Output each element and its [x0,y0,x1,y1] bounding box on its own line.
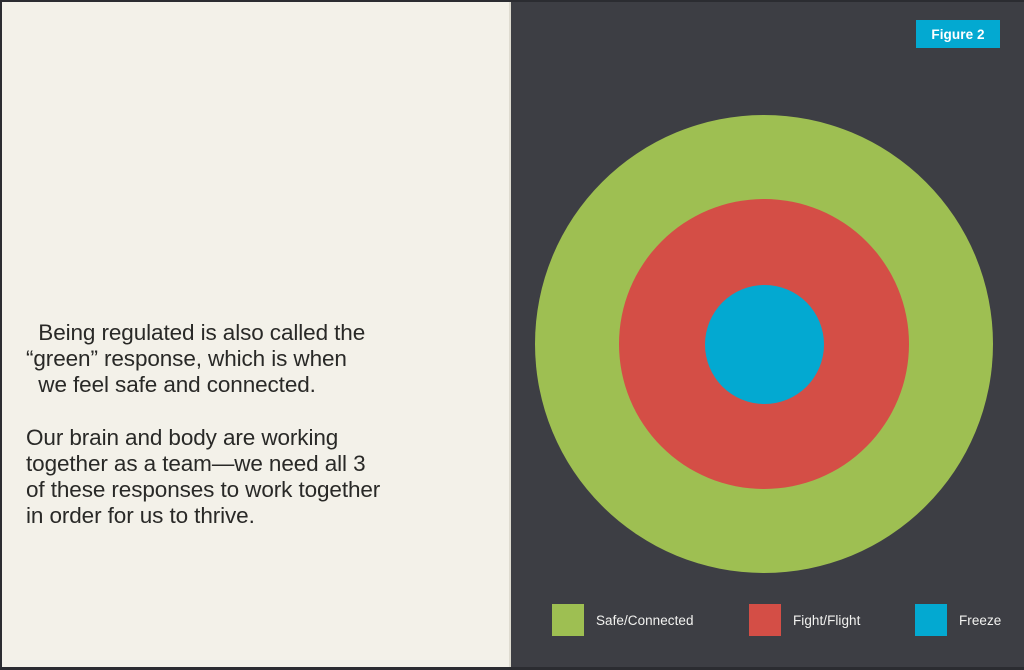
text-panel: Being regulated is also called the “gree… [2,2,511,667]
paragraph-2-line-3: of these responses to work together [26,477,478,503]
legend-item-freeze: Freeze [915,603,1001,637]
concentric-circles-diagram [511,2,1024,667]
paragraph-1-line-2: “green” response, which is when [26,346,478,372]
legend-item-safe-connected: Safe/Connected [552,603,694,637]
legend-swatch-green-icon [552,604,584,636]
body-copy: Being regulated is also called the “gree… [26,320,478,529]
figure-panel: Figure 2 Safe/Connected Fight/Flight Fre… [511,2,1024,667]
figure-page: Being regulated is also called the “gree… [0,0,1024,670]
paragraph-1-line-1: Being regulated is also called the [26,320,478,346]
legend-label-fight-flight: Fight/Flight [793,613,860,628]
legend-label-freeze: Freeze [959,613,1001,628]
legend-item-fight-flight: Fight/Flight [749,603,860,637]
paragraph-2: Our brain and body are working together … [26,425,478,530]
legend-swatch-cyan-icon [915,604,947,636]
paragraph-1-line-3: we feel safe and connected. [26,372,478,398]
ring-freeze [705,285,824,404]
legend-label-safe-connected: Safe/Connected [596,613,694,628]
legend-swatch-red-icon [749,604,781,636]
paragraph-2-line-2: together as a team—we need all 3 [26,451,478,477]
paragraph-2-line-1: Our brain and body are working [26,425,478,451]
legend: Safe/Connected Fight/Flight Freeze [511,603,1024,639]
paragraph-1: Being regulated is also called the “gree… [26,320,478,399]
paragraph-2-line-4: in order for us to thrive. [26,503,478,529]
